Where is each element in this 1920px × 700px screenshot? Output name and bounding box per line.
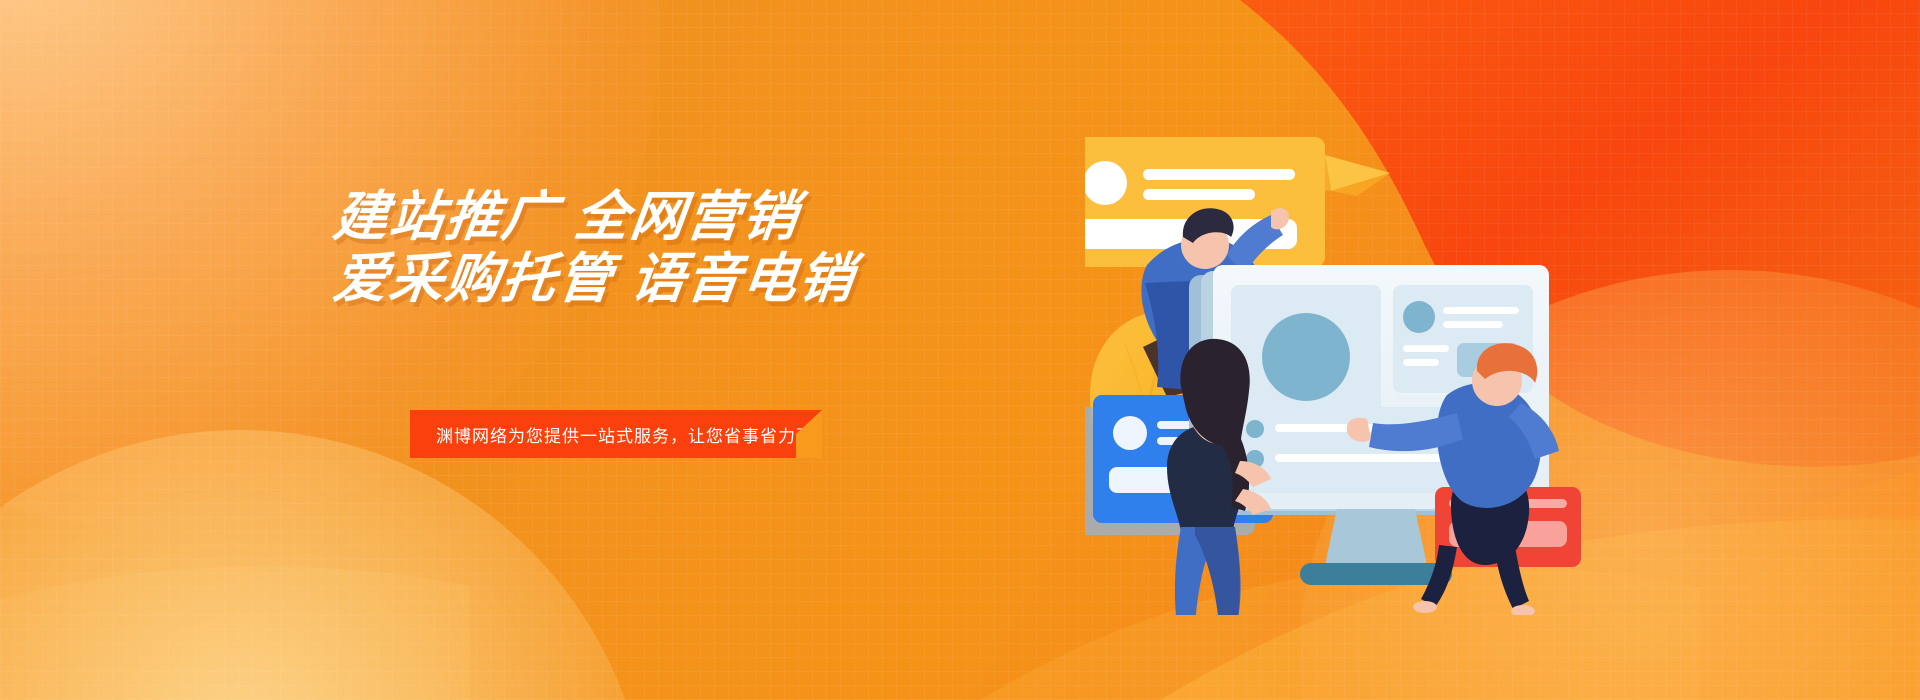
headline-block: 建站推广 全网营销 爱采购托管 语音电销 渊博网络为您提供一站式服务，让您省事省…	[330, 186, 1110, 310]
headline-line-2: 爱采购托管 语音电销	[330, 248, 1118, 310]
promo-banner: 建站推广 全网营销 爱采购托管 语音电销 渊博网络为您提供一站式服务，让您省事省…	[0, 0, 1920, 700]
hero-illustration	[1085, 95, 1645, 615]
headline-line-1: 建站推广 全网营销	[330, 186, 1118, 248]
illustration-svg	[1085, 95, 1645, 615]
glow-circle-bottom-left	[0, 430, 650, 700]
subtitle-ribbon: 渊博网络为您提供一站式服务，让您省事省力更省心	[410, 410, 822, 458]
ribbon-notch-shape	[770, 410, 822, 506]
